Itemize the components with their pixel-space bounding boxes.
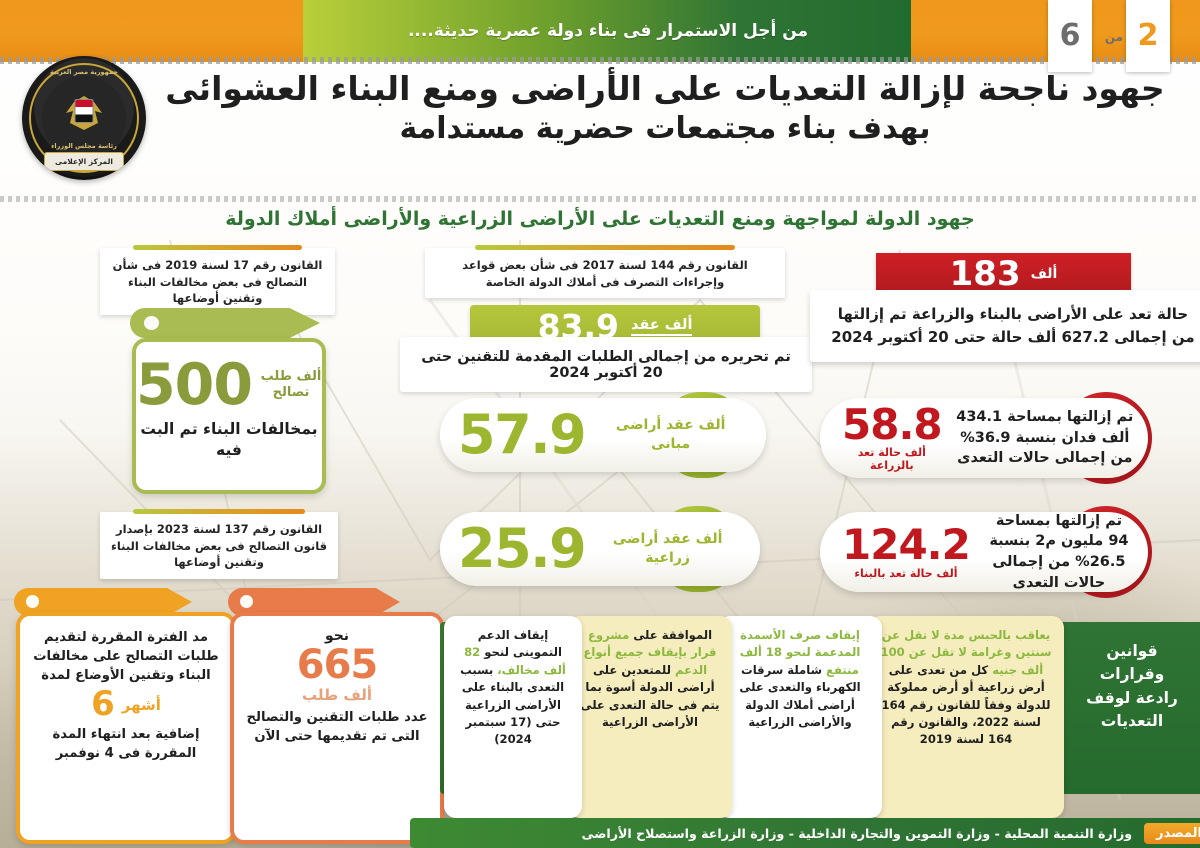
card-25-9: ألف عقد أراضى زراعية 25.9 xyxy=(440,512,760,586)
tag-hole-icon xyxy=(144,316,159,330)
law-card-plain: إيقاف الدعم التموينى لنحو xyxy=(478,628,562,659)
card-58-8-value: 58.8 xyxy=(842,404,942,445)
card-6-months-unit: أشهر xyxy=(122,696,161,714)
egypt-cabinet-crest-icon: جمهورية مصر العربية رئاسة مجلس الوزراء ا… xyxy=(22,56,146,180)
badge-183-unit: ألف xyxy=(1031,266,1058,282)
page-title: جهود ناجحة لإزالة التعديات على الأراضى و… xyxy=(150,68,1180,149)
law-note-accent-bar xyxy=(475,245,734,250)
header-dotted-rule xyxy=(0,57,1200,64)
card-6-months-value: 6 xyxy=(91,687,115,723)
card-58-8-value-group: 58.8 ألف حالة تعد بالزراعة xyxy=(842,404,942,472)
crest-top-text: جمهورية مصر العربية xyxy=(22,68,146,76)
tagline: من أجل الاستمرار فى بناء دولة عصرية حديث… xyxy=(318,16,898,46)
page-current: 2 xyxy=(1138,21,1159,51)
section-title: جهود الدولة لمواجهة ومنع التعديات على ال… xyxy=(0,202,1200,236)
tag-hole-icon xyxy=(240,595,253,608)
law-note-2023-text: القانون رقم 137 لسنة 2023 بإصدار قانون ا… xyxy=(110,521,328,571)
card-58-8-text: تم إزالتها بمساحة 434.1 ألف فدان بنسبة 3… xyxy=(956,407,1134,469)
card-183-body: حالة تعد على الأراضى بالبناء والزراعة تم… xyxy=(810,290,1200,362)
card-500: ألف طلب تصالح 500 بمخالفات البناء تم الب… xyxy=(132,338,326,494)
infographic-canvas: من أجل الاستمرار فى بناء دولة عصرية حديث… xyxy=(0,0,1200,848)
card-124-2-value-group: 124.2 ألف حالة تعد بالبناء xyxy=(842,524,970,579)
bottom-right-label: قوانين وقرارات رادعة لوقف التعديات xyxy=(1078,640,1186,733)
card-25-9-label: ألف عقد أراضى زراعية xyxy=(601,530,734,568)
law-card-text: إيقاف الدعم التموينى لنحو 82 ألف مخالف، … xyxy=(453,627,573,749)
card-57-9-value: 57.9 xyxy=(458,408,585,462)
crest-mid-text: رئاسة مجلس الوزراء xyxy=(22,142,146,150)
card-665-value: 665 xyxy=(244,644,430,686)
tag-hole-icon xyxy=(26,595,39,608)
page-total-box: 6 xyxy=(1048,0,1092,72)
law-card-text: الموافقة على مشروع قرار بإيقاف جميع أنوا… xyxy=(577,627,723,731)
card-25-9-value: 25.9 xyxy=(458,522,585,576)
card-124-2-value: 124.2 xyxy=(842,524,970,565)
card-58-8: تم إزالتها بمساحة 434.1 ألف فدان بنسبة 3… xyxy=(820,398,1148,478)
card-500-unit: ألف طلب تصالح xyxy=(260,369,322,402)
law-note-accent-bar xyxy=(133,509,304,514)
page-total: 6 xyxy=(1060,21,1081,51)
card-6-months: مد الفترة المقررة لتقديم طلبات التصالح ع… xyxy=(16,612,236,844)
card-58-8-sub: ألف حالة تعد بالزراعة xyxy=(842,446,942,472)
law-note-2017-text: القانون رقم 144 لسنة 2017 فى شأن بعض قوا… xyxy=(435,257,775,290)
title-line-2: بهدف بناء مجتمعات حضرية مستدامة xyxy=(150,110,1180,148)
law-card-food-support-stop: إيقاف الدعم التموينى لنحو 82 ألف مخالف، … xyxy=(444,616,582,818)
badge-183-value: 183 xyxy=(950,257,1021,291)
card-665: نحو 665 ألف طلب عدد طلبات التقنين والتصا… xyxy=(230,612,444,844)
section-title-text: جهود الدولة لمواجهة ومنع التعديات على ال… xyxy=(225,208,975,230)
card-124-2-text: تم إزالتها بمساحة 94 مليون م2 بنسبة 26.5… xyxy=(984,511,1134,593)
card-6-months-text-after: إضافية بعد انتهاء المدة المقررة فى 4 نوف… xyxy=(30,725,222,763)
crest-media-center-plate: المركز الإعلامى xyxy=(44,152,124,171)
law-card-plain: الموافقة على xyxy=(629,628,712,642)
law-card-text: إيقاف صرف الأسمدة المدعمة لنحو 18 ألف من… xyxy=(727,627,873,731)
card-183-text: حالة تعد على الأراضى بالبناء والزراعة تم… xyxy=(824,303,1200,348)
note-83-9-text: تم تحريره من إجمالى الطلبات المقدمة للتق… xyxy=(410,349,802,381)
law-note-2019: القانون رقم 17 لسنة 2019 فى شأن التصالح … xyxy=(100,248,335,315)
card-665-unit: ألف طلب xyxy=(244,686,430,704)
egypt-flag-icon xyxy=(75,99,94,123)
card-500-desc: بمخالفات البناء تم البت فيه xyxy=(136,419,322,461)
badge-83-9-unit: ألف عقد xyxy=(631,317,692,336)
badge-183: ألف 183 xyxy=(876,253,1131,295)
card-124-2-sub: ألف حالة تعد بالبناء xyxy=(842,567,970,580)
law-note-2017: القانون رقم 144 لسنة 2017 فى شأن بعض قوا… xyxy=(425,248,785,298)
card-6-months-text-before: مد الفترة المقررة لتقديم طلبات التصالح ع… xyxy=(30,628,222,685)
law-note-accent-bar xyxy=(133,245,302,250)
law-note-2019-text: القانون رقم 17 لسنة 2019 فى شأن التصالح … xyxy=(110,257,325,307)
law-card-text: يعاقب بالحبس مدة لا تقل عن سنتين وغرامة … xyxy=(877,627,1055,749)
title-line-1: جهود ناجحة لإزالة التعديات على الأراضى و… xyxy=(150,68,1180,110)
card-500-value: 500 xyxy=(136,358,252,412)
card-665-text: عدد طلبات التقنين والتصالح التى تم تقديم… xyxy=(244,708,430,746)
card-124-2: تم إزالتها بمساحة 94 مليون م2 بنسبة 26.5… xyxy=(820,512,1148,592)
note-83-9: تم تحريره من إجمالى الطلبات المقدمة للتق… xyxy=(400,337,812,392)
card-57-9-label: ألف عقد أراضى مبانى xyxy=(601,416,740,454)
law-note-2023: القانون رقم 137 لسنة 2023 بإصدار قانون ا… xyxy=(100,512,338,579)
card-57-9: ألف عقد أراضى مبانى 57.9 xyxy=(440,398,766,472)
law-card-prison-penalty: يعاقب بالحبس مدة لا تقل عن سنتين وغرامة … xyxy=(868,616,1064,818)
law-card-fertilizer-stop: إيقاف صرف الأسمدة المدعمة لنحو 18 ألف من… xyxy=(718,616,882,818)
page-current-box: 2 xyxy=(1126,0,1170,72)
law-card-support-stop-approval: الموافقة على مشروع قرار بإيقاف جميع أنوا… xyxy=(568,616,732,818)
